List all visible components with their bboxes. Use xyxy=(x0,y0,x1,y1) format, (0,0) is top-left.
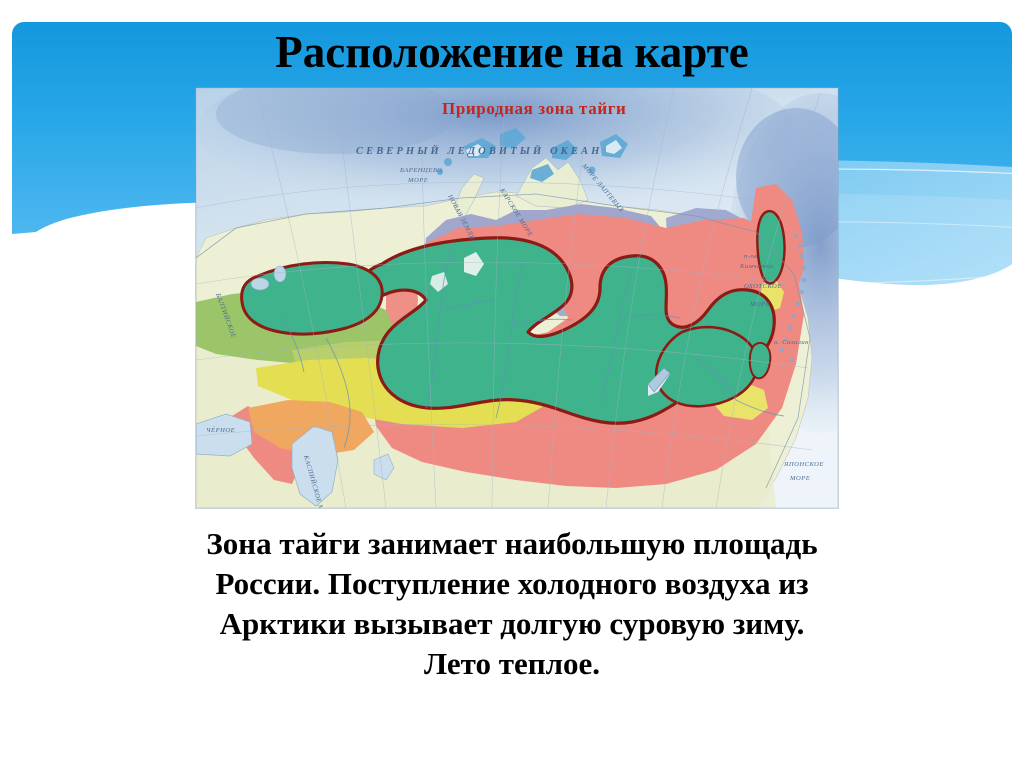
lake-ladoga xyxy=(251,278,269,290)
svg-text:МОРЕ: МОРЕ xyxy=(749,301,770,308)
svg-text:МОРЕ: МОРЕ xyxy=(407,177,428,184)
svg-text:МОРЕ: МОРЕ xyxy=(789,475,810,482)
lake-onega xyxy=(274,266,286,282)
slide-root: Расположение на карте xyxy=(0,0,1024,767)
svg-text:о. Сахалин: о. Сахалин xyxy=(774,339,809,346)
zone-taiga-kamchatka xyxy=(757,211,784,283)
caption-text: Зона тайги занимает наибольшую площадь Р… xyxy=(90,524,934,684)
ocean-label: СЕВЕРНЫЙ ЛЕДОВИТЫЙ ОКЕАН xyxy=(356,145,602,157)
map-title: Природная зона тайги xyxy=(442,99,626,118)
svg-text:Камчатка: Камчатка xyxy=(739,263,774,270)
svg-text:БАРЕНЦЕВО: БАРЕНЦЕВО xyxy=(399,167,442,174)
svg-text:п-ов: п-ов xyxy=(744,253,758,260)
map-image: Природная зона тайги СЕВЕРНЫЙ ЛЕДОВИТЫЙ … xyxy=(196,88,838,508)
caption-line-3: Арктики вызывает долгую суровую зиму. xyxy=(90,604,934,644)
caption-line-4: Лето теплое. xyxy=(90,644,934,684)
svg-text:ОХОТСКОЕ: ОХОТСКОЕ xyxy=(744,283,782,290)
svg-text:ЯПОНСКОЕ: ЯПОНСКОЕ xyxy=(783,461,824,468)
page-title: Расположение на карте xyxy=(0,24,1024,80)
caption-line-2: России. Поступление холодного воздуха из xyxy=(90,564,934,604)
caption-line-1: Зона тайги занимает наибольшую площадь xyxy=(90,524,934,564)
svg-text:ЧЁРНОЕ: ЧЁРНОЕ xyxy=(206,426,235,434)
